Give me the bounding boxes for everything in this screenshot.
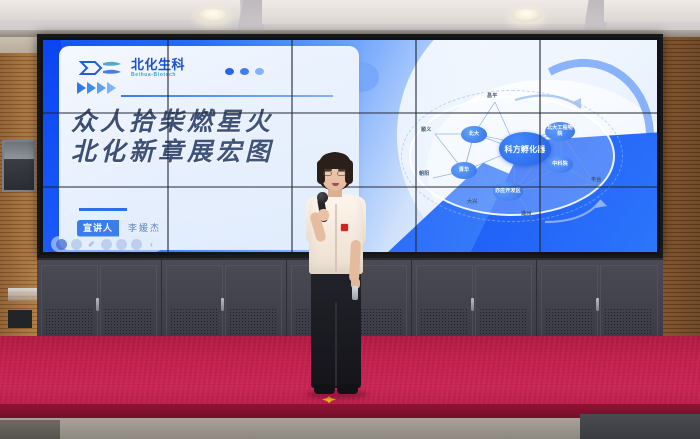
diagram-node-cas: 中科院 — [547, 156, 573, 173]
dot-1-icon — [225, 68, 234, 75]
ceiling-panel — [604, 0, 700, 22]
cabinet-vent — [420, 308, 468, 336]
logo-text: 北化生科 Beihua-Biotech — [131, 58, 185, 78]
presenter-person — [292, 152, 378, 410]
person-shoe-right — [337, 384, 358, 394]
logo-text-en: Beihua-Biotech — [131, 72, 185, 78]
pen-icon[interactable] — [71, 239, 82, 250]
person-button-placket — [335, 204, 337, 272]
cabinet-unit[interactable] — [162, 260, 287, 346]
cabinet-vent — [45, 308, 93, 336]
slideshow-toolbar[interactable]: ✐ ‹ — [51, 236, 163, 252]
dot-2-icon — [240, 68, 249, 75]
presenter-name: 李媛杰 — [119, 220, 170, 237]
window-glare — [8, 288, 38, 301]
cabinet-vent — [229, 308, 277, 336]
cabinet-vent — [545, 308, 593, 336]
trouser-seam — [335, 302, 337, 386]
presentation-remote[interactable] — [352, 286, 358, 300]
highlighter-icon[interactable]: ✐ — [86, 239, 97, 250]
cabinet-vent — [104, 308, 152, 336]
party-emblem-badge-icon — [341, 224, 348, 231]
divider-rule — [79, 208, 127, 211]
slides-icon[interactable] — [116, 239, 127, 250]
diagram-district-shunyi: 顺义 — [421, 128, 431, 134]
cabinet-handle[interactable] — [471, 298, 474, 311]
dot-decoration — [225, 68, 264, 75]
person-shoe-left — [314, 384, 335, 394]
dot-3-icon — [255, 68, 264, 75]
conference-hall-scene: 北化生科 Beihua-Biotech 众人拾柴燃星火 北化新章展宏图 — [0, 0, 700, 439]
diagram-district-tongzhou: 通州 — [521, 212, 531, 218]
control-booth-window — [2, 140, 36, 192]
laser-icon[interactable] — [101, 239, 112, 250]
diagram-district-chaoyang: 朝阳 — [419, 172, 429, 178]
diagram-node-tsinghua: 清华 — [451, 162, 477, 179]
more-icon[interactable] — [131, 239, 142, 250]
logo-text-cn: 北化生科 — [131, 58, 185, 71]
prev-icon[interactable]: ‹ — [146, 239, 157, 250]
diagram-node-yizhuang: 亦庄开发区 — [493, 182, 523, 201]
downlight — [198, 9, 228, 22]
header-rule — [121, 95, 333, 97]
diagram-district-changping: 昌平 — [487, 94, 497, 100]
logo-mark-icon — [79, 58, 125, 78]
cabinet-vent — [170, 308, 218, 336]
diagram-center-node: 科方孵化器 — [499, 132, 551, 166]
downlight — [511, 9, 541, 22]
cabinet-unit[interactable] — [537, 260, 663, 346]
cabinet-handle[interactable] — [596, 298, 599, 311]
eyeglass-lens-left-icon — [323, 171, 332, 176]
diagram-district-fengtai: 丰台 — [591, 178, 601, 184]
headline-line-1: 众人拾柴燃星火 — [71, 108, 341, 138]
presenter-label: 宣讲人 — [77, 220, 119, 237]
cabinet-handle[interactable] — [221, 298, 224, 311]
cabinet-vent — [479, 308, 527, 336]
booth-equipment — [8, 310, 32, 328]
ceiling-panel — [262, 0, 592, 24]
diagram-node-beida: 北大 — [461, 126, 487, 143]
floor-shadow-right — [580, 414, 700, 439]
presenter-credit: 宣讲人 李媛杰 — [77, 220, 170, 237]
ceiling — [0, 0, 700, 33]
person-hair-side-right — [345, 160, 353, 184]
chevron-decoration-icon — [77, 82, 116, 94]
diagram-node-beida-eng: 北大工程物院 — [545, 122, 575, 141]
eyeglass-lens-right-icon — [337, 171, 346, 176]
cabinet-handle[interactable] — [96, 298, 99, 311]
diagram-district-daxing: 大兴 — [467, 200, 477, 206]
microphone-head-icon[interactable] — [317, 192, 328, 203]
cabinet-vent — [604, 308, 652, 336]
cabinet-unit[interactable] — [412, 260, 537, 346]
incubator-network-diagram: 科方孵化器 北大 清华 北大工程物院 中科院 亦庄开发区 昌平 顺义 朝阳 大兴… — [395, 82, 633, 232]
company-logo: 北化生科 Beihua-Biotech — [79, 58, 185, 78]
floor-shadow-left — [0, 420, 60, 439]
cabinet-unit[interactable] — [37, 260, 162, 346]
pointer-icon[interactable] — [56, 239, 67, 250]
